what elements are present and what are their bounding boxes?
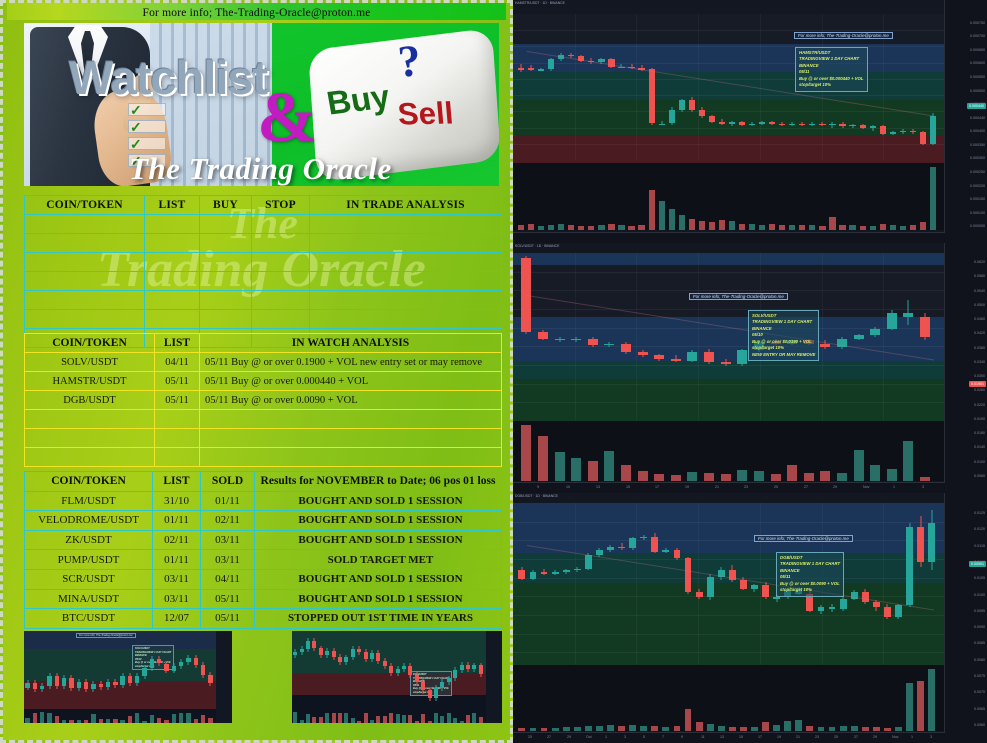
volume-bar bbox=[873, 727, 880, 731]
cell-coin bbox=[25, 448, 155, 467]
candlestick bbox=[649, 14, 655, 160]
time-tick: 9 bbox=[537, 485, 539, 489]
status-badge: BOUGHT AND SOLD 1 SESSION bbox=[255, 511, 502, 531]
volume-bar bbox=[740, 727, 747, 731]
col-buy: BUY bbox=[200, 196, 252, 215]
cell-list bbox=[145, 272, 200, 291]
dice-buy-label: Buy bbox=[324, 77, 393, 122]
candlestick bbox=[428, 631, 432, 709]
volume-bar bbox=[421, 714, 425, 723]
price-tick: 0.000100 bbox=[970, 211, 985, 215]
volume-bar bbox=[396, 714, 400, 723]
volume-bar bbox=[40, 712, 44, 723]
cell-list: 04/11 bbox=[155, 353, 200, 372]
volume-bar bbox=[106, 719, 110, 723]
candlestick bbox=[528, 14, 534, 160]
volume-bar bbox=[598, 225, 604, 230]
volume-bar bbox=[806, 726, 813, 731]
candlestick bbox=[541, 503, 548, 671]
cell-coin: DGB/USDT bbox=[25, 391, 155, 410]
candlestick bbox=[621, 253, 631, 421]
table-row[interactable]: SCR/USDT03/1104/11BOUGHT AND SOLD 1 SESS… bbox=[25, 569, 502, 589]
candlestick bbox=[186, 631, 190, 709]
table-row[interactable] bbox=[25, 234, 502, 253]
cell-coin: SOLV/USDT bbox=[25, 353, 155, 372]
candlestick bbox=[135, 631, 139, 709]
volume-bar bbox=[737, 470, 747, 481]
cell-coin bbox=[25, 272, 145, 291]
in-trade-rows bbox=[25, 215, 502, 348]
volume-bar bbox=[789, 225, 795, 230]
volume-bar bbox=[839, 225, 845, 230]
cell-list: 05/11 bbox=[155, 372, 200, 391]
candlestick bbox=[588, 14, 594, 160]
table-row[interactable]: ZK/USDT02/1103/11BOUGHT AND SOLD 1 SESSI… bbox=[25, 530, 502, 550]
candlestick bbox=[552, 503, 559, 671]
time-tick: 19 bbox=[777, 735, 781, 739]
volume-bar bbox=[621, 465, 631, 481]
candlestick bbox=[306, 631, 310, 709]
candlestick bbox=[740, 503, 747, 671]
volume-bar bbox=[659, 201, 665, 230]
gridline bbox=[760, 503, 761, 671]
volume-bar bbox=[574, 727, 581, 731]
candlestick bbox=[106, 631, 110, 709]
table-row[interactable] bbox=[25, 272, 502, 291]
candlestick bbox=[887, 253, 897, 421]
volume-bar bbox=[920, 477, 930, 481]
volume-bar bbox=[906, 683, 913, 731]
candlestick bbox=[608, 14, 614, 160]
price-axis[interactable]: 0.0007500.0007000.0006500.0006000.000550… bbox=[944, 0, 987, 243]
volume-bar bbox=[685, 709, 692, 731]
time-axis[interactable] bbox=[513, 232, 945, 243]
time-tick: 21 bbox=[796, 735, 800, 739]
candlestick bbox=[628, 14, 634, 160]
volume-bar bbox=[880, 224, 886, 230]
volume-bar bbox=[604, 451, 614, 481]
volume-bar bbox=[332, 713, 336, 723]
table-row[interactable]: PUMP/USDT01/1103/11SOLD TARGET MET bbox=[25, 550, 502, 570]
volume-bar bbox=[649, 190, 655, 230]
volume-bar bbox=[895, 727, 902, 731]
volume-pane[interactable] bbox=[513, 665, 945, 731]
volume-bar bbox=[618, 726, 625, 731]
candlestick bbox=[47, 631, 51, 709]
time-tick: 10 bbox=[566, 485, 570, 489]
volume-pane[interactable] bbox=[513, 421, 945, 481]
candlestick bbox=[518, 503, 525, 671]
table-row[interactable]: BTC/USDT12/0705/11STOPPED OUT 1ST TIME I… bbox=[25, 609, 502, 629]
screenshot-root: For more info; The-Trading-Oracle@proton… bbox=[0, 0, 987, 743]
candlestick bbox=[69, 631, 73, 709]
candlestick bbox=[588, 253, 598, 421]
candlestick bbox=[721, 253, 731, 421]
candlestick bbox=[538, 253, 548, 421]
chart-annotation-note: DGB/USDT TRADINGVIEW 1 DAY CHART BINANCE… bbox=[776, 552, 844, 597]
results-table: COIN/TOKEN LIST SOLD Results for NOVEMBE… bbox=[24, 471, 502, 629]
price-tick: 0.0460 bbox=[974, 317, 985, 321]
volume-bar bbox=[769, 224, 775, 230]
volume-bar bbox=[818, 727, 825, 731]
cell-buy bbox=[200, 215, 252, 234]
candlestick bbox=[779, 14, 785, 160]
volume-bar bbox=[541, 728, 548, 731]
candlestick bbox=[574, 503, 581, 671]
price-tick: 0.0580 bbox=[974, 274, 985, 278]
volume-bar bbox=[696, 722, 703, 731]
volume-bar bbox=[640, 726, 647, 731]
volume-bar bbox=[402, 715, 406, 723]
volume-bar bbox=[784, 721, 791, 731]
price-tick: 0.0105 bbox=[974, 576, 985, 580]
table-row[interactable]: HAMSTR/USDT05/1105/11 Buy @ or over 0.00… bbox=[25, 372, 502, 391]
table-row[interactable]: SOLV/USDT04/1105/11 Buy @ or over 0.1900… bbox=[25, 353, 502, 372]
price-tick: 0.0380 bbox=[974, 346, 985, 350]
status-badge: BOUGHT AND SOLD 1 SESSION bbox=[255, 530, 502, 550]
table-row[interactable] bbox=[25, 310, 502, 329]
cell-coin bbox=[25, 429, 155, 448]
volume-bar bbox=[749, 224, 755, 230]
candlestick bbox=[402, 631, 406, 709]
volume-bar bbox=[618, 225, 624, 230]
cell-analysis bbox=[310, 234, 502, 253]
candlestick bbox=[434, 631, 438, 709]
watchlist-title: Watchlist bbox=[69, 50, 267, 105]
mini-chart-left[interactable]: For more info; The-Trading-Oracle@proton… bbox=[24, 631, 232, 723]
candlestick bbox=[719, 14, 725, 160]
time-tick: 27 bbox=[854, 735, 858, 739]
chart-symbol-header: HAMSTR/USDT · 1D · BINANCE bbox=[515, 1, 565, 5]
table-row[interactable] bbox=[25, 291, 502, 310]
time-tick: 1 bbox=[893, 485, 895, 489]
candlestick bbox=[558, 14, 564, 160]
candlestick bbox=[884, 503, 891, 671]
candlestick bbox=[854, 253, 864, 421]
price-pane[interactable] bbox=[513, 253, 945, 421]
price-tick: 0.0300 bbox=[974, 374, 985, 378]
table-row[interactable] bbox=[25, 253, 502, 272]
candlestick bbox=[55, 631, 59, 709]
price-tick: 0.000750 bbox=[970, 21, 985, 25]
candlestick bbox=[99, 631, 103, 709]
price-axis[interactable]: 0.01250.01200.01150.01100.01050.01000.00… bbox=[944, 493, 987, 743]
candlestick bbox=[293, 631, 297, 709]
candlestick bbox=[364, 631, 368, 709]
volume-bar bbox=[77, 720, 81, 723]
cell-coin: PUMP/USDT bbox=[25, 550, 153, 570]
cell-list: 31/10 bbox=[153, 491, 201, 511]
price-tick: 0.000050 bbox=[970, 224, 985, 228]
cell-analysis bbox=[310, 272, 502, 291]
price-pane[interactable] bbox=[513, 503, 945, 671]
table-row[interactable]: VELODROME/USDT01/1102/11BOUGHT AND SOLD … bbox=[25, 511, 502, 531]
chart-symbol-header: DGB/USDT · 1D · BINANCE bbox=[515, 494, 558, 498]
cell-buy bbox=[200, 310, 252, 329]
cell-list bbox=[145, 253, 200, 272]
email-annotation: For more info; The-Trading-Oracle@proton… bbox=[794, 32, 893, 39]
table-row[interactable] bbox=[25, 429, 502, 448]
volume-bar bbox=[571, 458, 581, 481]
gridline bbox=[698, 253, 699, 421]
cell-analysis bbox=[310, 310, 502, 329]
volume-bar bbox=[552, 728, 559, 731]
volume-bar bbox=[903, 441, 913, 481]
price-tick: 0.000600 bbox=[970, 61, 985, 65]
volume-bar bbox=[555, 452, 565, 481]
price-tick: 0.0220 bbox=[974, 403, 985, 407]
candlestick bbox=[618, 503, 625, 671]
volume-bar bbox=[376, 716, 380, 723]
volume-bar bbox=[729, 727, 736, 731]
volume-bar bbox=[453, 718, 457, 723]
price-tick: 0.0080 bbox=[974, 658, 985, 662]
cell-coin: HAMSTR/USDT bbox=[25, 372, 155, 391]
col-coin-token: COIN/TOKEN bbox=[25, 196, 145, 215]
price-tick: 0.0095 bbox=[974, 609, 985, 613]
chart-solv[interactable]: SOLV/USDT · 1D · BINANCE 0.06200.05800.0… bbox=[513, 243, 987, 493]
candlestick bbox=[762, 503, 769, 671]
question-mark-icon: ? bbox=[396, 34, 423, 88]
candlestick bbox=[629, 503, 636, 671]
candlestick bbox=[920, 253, 930, 421]
volume-bar bbox=[440, 716, 444, 723]
cell-analysis bbox=[200, 410, 502, 429]
price-tick: 0.000500 bbox=[970, 89, 985, 93]
cell-sold: 03/11 bbox=[201, 550, 255, 570]
candlestick bbox=[729, 503, 736, 671]
volume-bar bbox=[707, 724, 714, 731]
candlestick bbox=[84, 631, 88, 709]
cell-coin bbox=[25, 234, 145, 253]
cell-list bbox=[155, 410, 200, 429]
volume-bar bbox=[849, 225, 855, 230]
price-tick: 0.0500 bbox=[974, 303, 985, 307]
cell-stop bbox=[252, 310, 310, 329]
last-price-badge: 0.000440 bbox=[967, 103, 986, 109]
volume-bar bbox=[518, 728, 525, 731]
tradingview-charts-panel: HAMSTR/USDT · 1D · BINANCE 0.0007500.000… bbox=[513, 0, 987, 743]
cell-coin: ZK/USDT bbox=[25, 530, 153, 550]
time-axis[interactable]: 252729Oct1357911131517192123252729Nov13 bbox=[513, 732, 945, 743]
volume-bar bbox=[186, 713, 190, 723]
price-tick: 0.0085 bbox=[974, 641, 985, 645]
chart-hamstr[interactable]: HAMSTR/USDT · 1D · BINANCE 0.0007500.000… bbox=[513, 0, 987, 243]
status-badge: BOUGHT AND SOLD 1 SESSION bbox=[255, 569, 502, 589]
candlestick bbox=[208, 631, 212, 709]
mini-price-axis bbox=[216, 631, 232, 723]
candlestick bbox=[659, 14, 665, 160]
volume-bar bbox=[795, 720, 802, 731]
time-tick: 7 bbox=[662, 735, 664, 739]
cell-sold: 02/11 bbox=[201, 511, 255, 531]
volume-bar bbox=[120, 720, 124, 723]
price-axis[interactable]: 0.06200.05800.05400.05000.04600.04200.03… bbox=[944, 243, 987, 493]
candlestick bbox=[548, 14, 554, 160]
cell-list: 02/11 bbox=[153, 530, 201, 550]
volume-bar bbox=[172, 714, 176, 724]
candlestick bbox=[157, 631, 161, 709]
price-tick: 0.0340 bbox=[974, 360, 985, 364]
volume-pane[interactable] bbox=[513, 163, 945, 230]
cell-analysis bbox=[200, 429, 502, 448]
candlestick bbox=[408, 631, 412, 709]
volume-bar bbox=[84, 720, 88, 723]
candlestick bbox=[862, 503, 869, 671]
chart-annotation-note: HAMSTR/USDT TRADINGVIEW 1 DAY CHART BINA… bbox=[795, 47, 868, 92]
time-axis[interactable]: 910131517192123252729Nov13 bbox=[513, 482, 945, 493]
price-tick: 0.0180 bbox=[974, 431, 985, 435]
price-tick: 0.000300 bbox=[970, 156, 985, 160]
col-list: LIST bbox=[155, 334, 200, 353]
candlestick bbox=[466, 631, 470, 709]
price-tick: 0.000150 bbox=[970, 197, 985, 201]
cell-list: 01/11 bbox=[153, 550, 201, 570]
candlestick bbox=[704, 253, 714, 421]
candlestick bbox=[113, 631, 117, 709]
time-tick: 1 bbox=[911, 735, 913, 739]
candlestick bbox=[91, 631, 95, 709]
time-tick: 3 bbox=[930, 735, 932, 739]
cell-coin bbox=[25, 410, 155, 429]
table-header-row: COIN/TOKEN LIST BUY STOP IN TRADE ANALYS… bbox=[25, 196, 502, 215]
volume-bar bbox=[383, 716, 387, 723]
candlestick bbox=[638, 253, 648, 421]
candlestick bbox=[440, 631, 444, 709]
cell-stop bbox=[252, 234, 310, 253]
volume-bar bbox=[91, 714, 95, 723]
candlestick bbox=[453, 631, 457, 709]
time-tick: 27 bbox=[547, 735, 551, 739]
candlestick bbox=[571, 253, 581, 421]
cell-buy bbox=[200, 291, 252, 310]
time-tick: Nov bbox=[863, 485, 869, 489]
price-tick: 0.0260 bbox=[974, 388, 985, 392]
table-row[interactable] bbox=[25, 448, 502, 467]
volume-bar bbox=[729, 221, 735, 230]
time-tick: 13 bbox=[596, 485, 600, 489]
candlestick bbox=[687, 253, 697, 421]
chart-annotation-note: SOLV/USDT TRADINGVIEW 1 DAY CHART BINANC… bbox=[748, 310, 819, 361]
volume-bar bbox=[829, 727, 836, 731]
volume-bar bbox=[718, 726, 725, 731]
volume-bar bbox=[887, 469, 897, 481]
candlestick bbox=[699, 14, 705, 160]
volume-bar bbox=[150, 715, 154, 723]
volume-bar bbox=[654, 474, 664, 482]
volume-bar bbox=[530, 728, 537, 731]
candlestick bbox=[689, 14, 695, 160]
candlestick bbox=[120, 631, 124, 709]
volume-bar bbox=[55, 716, 59, 723]
time-tick: 17 bbox=[655, 485, 659, 489]
table-row[interactable]: FLM/USDT31/1001/11BOUGHT AND SOLD 1 SESS… bbox=[25, 491, 502, 511]
volume-bar bbox=[910, 225, 916, 230]
candlestick bbox=[618, 14, 624, 160]
volume-bar bbox=[799, 225, 805, 230]
cell-coin: VELODROME/USDT bbox=[25, 511, 153, 531]
volume-bar bbox=[408, 715, 412, 723]
price-tick: 0.0070 bbox=[974, 690, 985, 694]
price-tick: 0.000440 bbox=[970, 116, 985, 120]
volume-bar bbox=[69, 720, 73, 723]
candlestick bbox=[518, 14, 524, 160]
candlestick bbox=[669, 14, 675, 160]
candlestick bbox=[585, 503, 592, 671]
volume-bar bbox=[751, 727, 758, 731]
volume-bar bbox=[312, 717, 316, 723]
volume-bar bbox=[293, 712, 297, 723]
volume-bar bbox=[819, 226, 825, 230]
col-results-summary: Results for NOVEMBER to Date; 06 pos 01 … bbox=[255, 472, 502, 492]
price-tick: 0.000550 bbox=[970, 75, 985, 79]
cell-stop bbox=[252, 272, 310, 291]
volume-bar bbox=[521, 425, 531, 481]
candlestick bbox=[709, 14, 715, 160]
price-tick: 0.000350 bbox=[970, 143, 985, 147]
table-row[interactable]: MINA/USDT03/1105/11BOUGHT AND SOLD 1 SES… bbox=[25, 589, 502, 609]
volume-bar bbox=[837, 473, 847, 481]
cell-analysis bbox=[310, 291, 502, 310]
price-tick: 0.000700 bbox=[970, 34, 985, 38]
volume-bar bbox=[651, 726, 658, 731]
volume-bar bbox=[860, 226, 866, 230]
candlestick bbox=[479, 631, 483, 709]
candlestick bbox=[737, 253, 747, 421]
cell-stop bbox=[252, 215, 310, 234]
candlestick bbox=[820, 253, 830, 421]
volume-bar bbox=[558, 224, 564, 230]
candlestick bbox=[928, 503, 935, 671]
watchlist-panel: For more info; The-Trading-Oracle@proton… bbox=[0, 0, 513, 743]
volume-bar bbox=[364, 713, 368, 723]
candlestick bbox=[142, 631, 146, 709]
candlestick bbox=[396, 631, 400, 709]
price-tick: 0.0100 bbox=[974, 593, 985, 597]
volume-bar bbox=[447, 713, 451, 723]
volume-bar bbox=[428, 721, 432, 723]
cell-coin bbox=[25, 253, 145, 272]
candlestick bbox=[194, 631, 198, 709]
table-row[interactable] bbox=[25, 410, 502, 429]
cell-analysis bbox=[310, 253, 502, 272]
table-row[interactable]: DGB/USDT05/1105/11 Buy @ or over 0.0090 … bbox=[25, 391, 502, 410]
volume-bar bbox=[389, 713, 393, 723]
price-tick: 0.0065 bbox=[974, 707, 985, 711]
volume-bar bbox=[629, 725, 636, 731]
cell-analysis bbox=[200, 448, 502, 467]
candlestick bbox=[40, 631, 44, 709]
table-row[interactable] bbox=[25, 215, 502, 234]
mini-price-axis bbox=[486, 631, 502, 723]
mini-chart-right[interactable]: DGB/USDT TRADINGVIEW 1 DAY CHART BINANCE… bbox=[292, 631, 502, 723]
volume-bar bbox=[884, 728, 891, 731]
volume-bar bbox=[179, 713, 183, 723]
candlestick bbox=[319, 631, 323, 709]
cell-sold: 03/11 bbox=[201, 530, 255, 550]
candlestick bbox=[671, 253, 681, 421]
volume-bar bbox=[829, 217, 835, 230]
time-tick: Oct bbox=[586, 735, 592, 739]
volume-bar bbox=[47, 713, 51, 723]
chart-symbol-header: SOLV/USDT · 1D · BINANCE bbox=[515, 244, 559, 248]
col-stop: STOP bbox=[252, 196, 310, 215]
volume-bar bbox=[779, 225, 785, 230]
volume-bar bbox=[699, 221, 705, 230]
chart-dgb[interactable]: DGB/USDT · 1D · BINANCE 0.01250.01200.01… bbox=[513, 493, 987, 743]
volume-bar bbox=[840, 726, 847, 731]
volume-bar bbox=[568, 225, 574, 230]
